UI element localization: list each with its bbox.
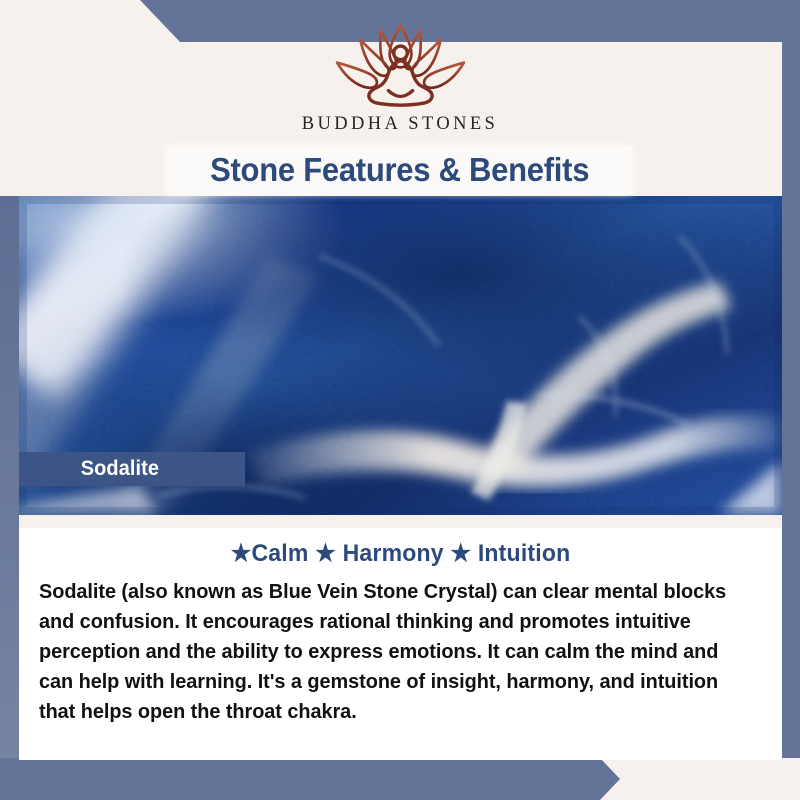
description-text: Sodalite (also known as Blue Vein Stone …: [39, 577, 741, 727]
content-top-strip: [19, 515, 782, 528]
page-title: Stone Features & Benefits: [210, 151, 589, 189]
frame-bottom-corner: [600, 758, 800, 800]
content-panel: ★Calm ★ Harmony ★ Intuition Sodalite (al…: [19, 515, 782, 760]
title-banner: Stone Features & Benefits: [167, 146, 632, 194]
lotus-meditation-icon: [313, 18, 488, 110]
stone-name-label: Sodalite: [19, 452, 245, 486]
infographic-page: BUDDHA STONES: [0, 0, 800, 800]
stone-name-text: Sodalite: [19, 457, 159, 481]
brand-logo: BUDDHA STONES: [0, 18, 800, 135]
brand-name: BUDDHA STONES: [302, 114, 499, 135]
frame-left-band: [0, 196, 19, 800]
keyword-list: ★Calm ★ Harmony ★ Intuition: [34, 539, 766, 568]
